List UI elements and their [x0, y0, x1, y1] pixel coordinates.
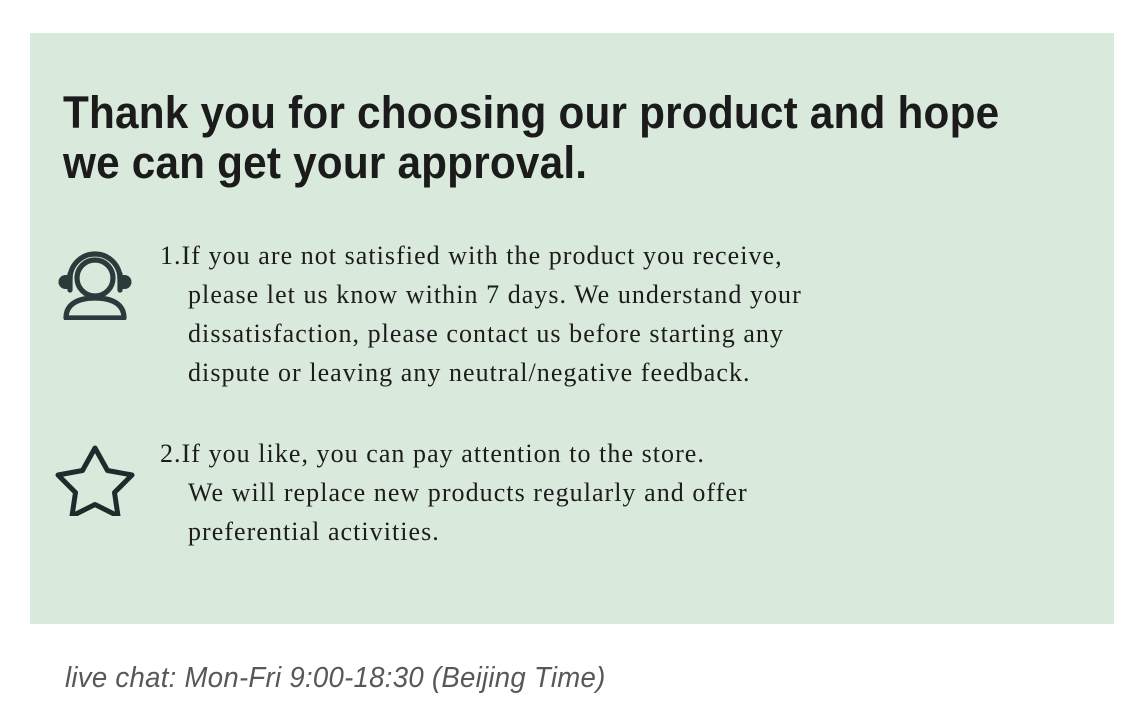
text-line: dispute or leaving any neutral/negative … [160, 353, 1074, 392]
headset-support-icon [30, 236, 160, 320]
notice-panel: Thank you for choosing our product and h… [30, 33, 1114, 624]
list-item: 1.If you are not satisfied with the prod… [30, 236, 1114, 392]
text-line: please let us know within 7 days. We und… [160, 275, 1074, 314]
page-title: Thank you for choosing our product and h… [63, 88, 1003, 188]
policy-list: 1.If you are not satisfied with the prod… [30, 236, 1114, 551]
list-item-text: 2.If you like, you can pay attention to … [160, 434, 1114, 551]
text-line: We will replace new products regularly a… [160, 473, 1074, 512]
live-chat-hours: live chat: Mon-Fri 9:00-18:30 (Beijing T… [65, 662, 606, 695]
text-line: preferential activities. [160, 512, 1074, 551]
text-line: dissatisfaction, please contact us befor… [160, 314, 1074, 353]
notice-page: Thank you for choosing our product and h… [0, 0, 1148, 716]
text-line: 1.If you are not satisfied with the prod… [160, 236, 1074, 275]
star-icon [30, 434, 160, 516]
list-item: 2.If you like, you can pay attention to … [30, 434, 1114, 551]
text-line: 2.If you like, you can pay attention to … [160, 434, 1074, 473]
list-item-text: 1.If you are not satisfied with the prod… [160, 236, 1114, 392]
